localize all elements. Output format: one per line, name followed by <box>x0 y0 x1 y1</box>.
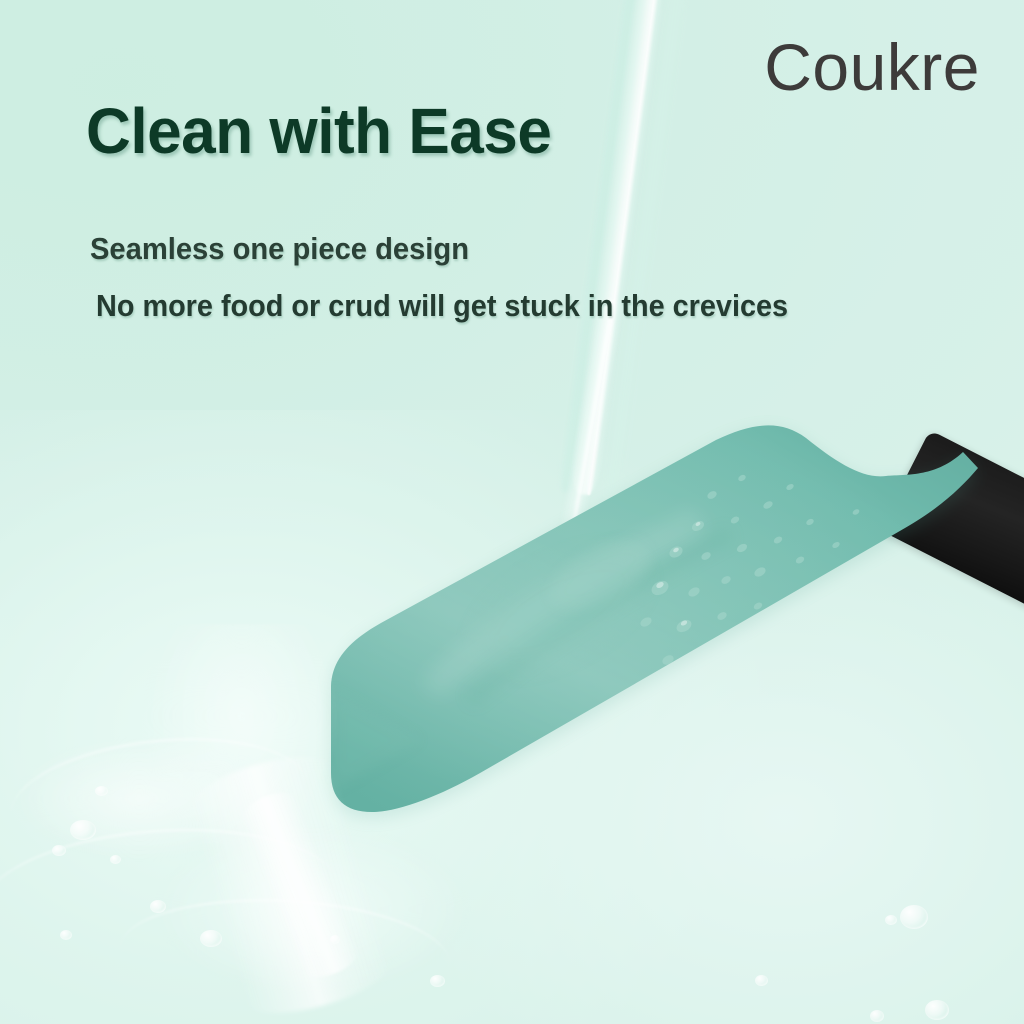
water-droplet <box>52 845 66 856</box>
brand-logo-text: Coukre <box>764 34 980 100</box>
water-droplet <box>885 915 897 925</box>
water-droplet <box>150 900 166 913</box>
water-droplet <box>60 930 72 940</box>
water-droplet <box>870 1010 884 1022</box>
water-droplet <box>330 935 340 944</box>
page-title: Clean with Ease <box>86 98 551 165</box>
water-droplet <box>200 930 222 947</box>
water-droplet <box>70 820 96 840</box>
water-droplet <box>430 975 445 987</box>
water-droplet <box>900 905 928 929</box>
subtitle-line-1: Seamless one piece design <box>90 231 469 267</box>
water-droplet <box>95 786 108 796</box>
product-marketing-image: Coukre Clean with Ease Seamless one piec… <box>0 0 1024 1024</box>
water-droplet <box>755 975 768 986</box>
water-droplet <box>925 1000 949 1020</box>
subtitle-line-2: No more food or crud will get stuck in t… <box>96 288 788 324</box>
water-droplet <box>110 855 121 864</box>
